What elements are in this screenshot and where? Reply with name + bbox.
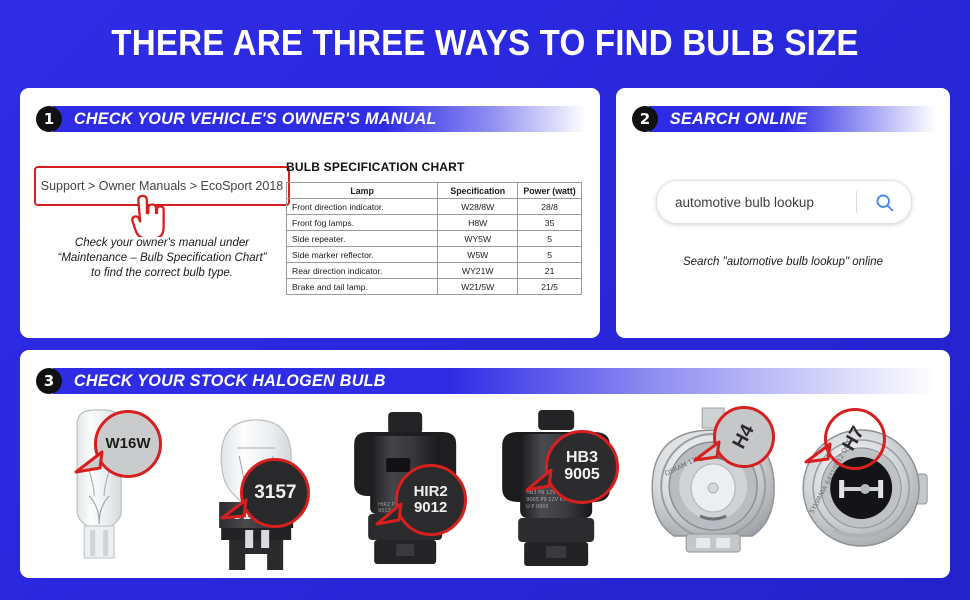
cell-spec: WY5W <box>438 231 518 247</box>
column-header-lamp: Lamp <box>287 183 438 199</box>
section-number-badge-2: 2 <box>632 106 658 132</box>
callout-tail-h4 <box>693 440 721 464</box>
manual-caption-line-1: Check your owner's manual under <box>28 236 296 251</box>
magnifier-icon[interactable] <box>857 192 911 213</box>
callout-label: H7 <box>840 423 869 454</box>
callout-label-line2: 9005 <box>564 467 600 484</box>
bulb-gallery: W16W <box>28 402 942 574</box>
section-panel-search-online: 2 SEARCH ONLINE automotive bulb lookup S… <box>616 88 950 338</box>
column-header-specification: Specification <box>438 183 518 199</box>
callout-bubble-3157: 3157 <box>240 458 310 528</box>
section-header-2: 2 SEARCH ONLINE <box>632 106 936 132</box>
callout-label: W16W <box>106 436 151 452</box>
callout-bubble-h4: H4 <box>713 406 775 468</box>
manual-caption-line-2: “Maintenance – Bulb Specification Chart” <box>28 251 296 266</box>
callout-tail-hb3 <box>525 468 553 494</box>
cell-power: 5 <box>518 231 582 247</box>
bulb-item-h7: SYLVANIA 64210B12 DOT H7 <box>790 402 942 574</box>
cell-lamp: Rear direction indicator. <box>287 263 438 279</box>
page-title: THERE ARE THREE WAYS TO FIND BULB SIZE <box>39 22 931 64</box>
callout-tail-w16w <box>74 450 104 476</box>
callout-tail-3157 <box>220 496 248 522</box>
bulb-item-hir2: HIR2 PX22d 12V 55W 9012 LL 12V 55W DOT H… <box>333 402 485 574</box>
cell-power: 5 <box>518 247 582 263</box>
bulb-specification-table: Lamp Specification Power (watt) Front di… <box>286 182 582 295</box>
cell-power: 21 <box>518 263 582 279</box>
section-title-3: CHECK YOUR STOCK HALOGEN BULB <box>53 371 386 391</box>
table-row: Front fog lamps. H8W 35 <box>287 215 582 231</box>
search-bar[interactable]: automotive bulb lookup <box>656 180 912 224</box>
cell-spec: H8W <box>438 215 518 231</box>
cell-lamp: Front direction indicator. <box>287 199 438 215</box>
section-panel-stock-bulb: 3 CHECK YOUR STOCK HALOGEN BULB <box>20 350 950 578</box>
callout-label: H4 <box>730 422 759 453</box>
callout-label-line2: 9012 <box>414 500 447 516</box>
cell-spec: W5W <box>438 247 518 263</box>
pointing-hand-icon <box>125 193 165 237</box>
cell-power: 28/8 <box>518 199 582 215</box>
cell-spec: WY21W <box>438 263 518 279</box>
manual-caption: Check your owner's manual under “Mainten… <box>28 236 296 281</box>
cell-lamp: Brake and tail lamp. <box>287 279 438 295</box>
cell-spec: W21/5W <box>438 279 518 295</box>
cell-lamp: Side marker reflector. <box>287 247 438 263</box>
callout-label-line1: HIR2 <box>414 484 448 500</box>
search-caption: Search "automotive bulb lookup" online <box>628 256 938 268</box>
cell-lamp: Front fog lamps. <box>287 215 438 231</box>
section-panel-owners-manual: 1 CHECK YOUR VEHICLE'S OWNER'S MANUAL Su… <box>20 88 600 338</box>
section-title-bar-1: CHECK YOUR VEHICLE'S OWNER'S MANUAL <box>53 106 586 132</box>
bulb-item-3157: 3157 3157 <box>180 402 332 574</box>
spec-table-title: BULB SPECIFICATION CHART <box>286 160 465 174</box>
bulb-item-h4: OSRAM 12V 60/55W H4 <box>637 402 789 574</box>
callout-tail-hir2 <box>375 502 403 528</box>
table-row: Front direction indicator. W28/8W 28/8 <box>287 199 582 215</box>
section-title-1: CHECK YOUR VEHICLE'S OWNER'S MANUAL <box>53 109 437 129</box>
callout-bubble-w16w: W16W <box>94 410 162 478</box>
bulb-item-w16w: W16W <box>28 402 180 574</box>
section-number-badge-3: 3 <box>36 368 62 394</box>
callout-bubble-hb3: HB3 9005 <box>545 430 619 504</box>
table-row: Brake and tail lamp. W21/5W 21/5 <box>287 279 582 295</box>
column-header-power: Power (watt) <box>518 183 582 199</box>
section-number-badge-1: 1 <box>36 106 62 132</box>
section-header-1: 1 CHECK YOUR VEHICLE'S OWNER'S MANUAL <box>36 106 586 132</box>
table-header-row: Lamp Specification Power (watt) <box>287 183 582 199</box>
callout-label: 3157 <box>254 483 296 503</box>
section-header-3: 3 CHECK YOUR STOCK HALOGEN BULB <box>36 368 936 394</box>
callout-bubble-hir2: HIR2 9012 <box>395 464 467 536</box>
section-title-bar-3: CHECK YOUR STOCK HALOGEN BULB <box>53 368 936 394</box>
poster-background: THERE ARE THREE WAYS TO FIND BULB SIZE 1… <box>0 0 970 600</box>
section-title-2: SEARCH ONLINE <box>649 109 807 129</box>
section-title-bar-2: SEARCH ONLINE <box>649 106 936 132</box>
cell-power: 21/5 <box>518 279 582 295</box>
svg-text:U P 0605: U P 0605 <box>526 504 549 510</box>
table-row: Side marker reflector. W5W 5 <box>287 247 582 263</box>
table-row: Side repeater. WY5W 5 <box>287 231 582 247</box>
search-input[interactable]: automotive bulb lookup <box>657 195 856 210</box>
cell-power: 35 <box>518 215 582 231</box>
bulb-item-hb3: HB3 P9 12V 60W 9005 P9 12V 65W DOT U P 0… <box>485 402 637 574</box>
cell-spec: W28/8W <box>438 199 518 215</box>
callout-tail-h7 <box>804 442 832 466</box>
callout-bubble-h7: H7 <box>824 408 886 470</box>
table-row: Rear direction indicator. WY21W 21 <box>287 263 582 279</box>
cell-lamp: Side repeater. <box>287 231 438 247</box>
manual-caption-line-3: to find the correct bulb type. <box>28 266 296 281</box>
callout-label-line1: HB3 <box>566 450 598 467</box>
breadcrumb[interactable]: Support > Owner Manuals > EcoSport 2018 <box>41 179 284 193</box>
